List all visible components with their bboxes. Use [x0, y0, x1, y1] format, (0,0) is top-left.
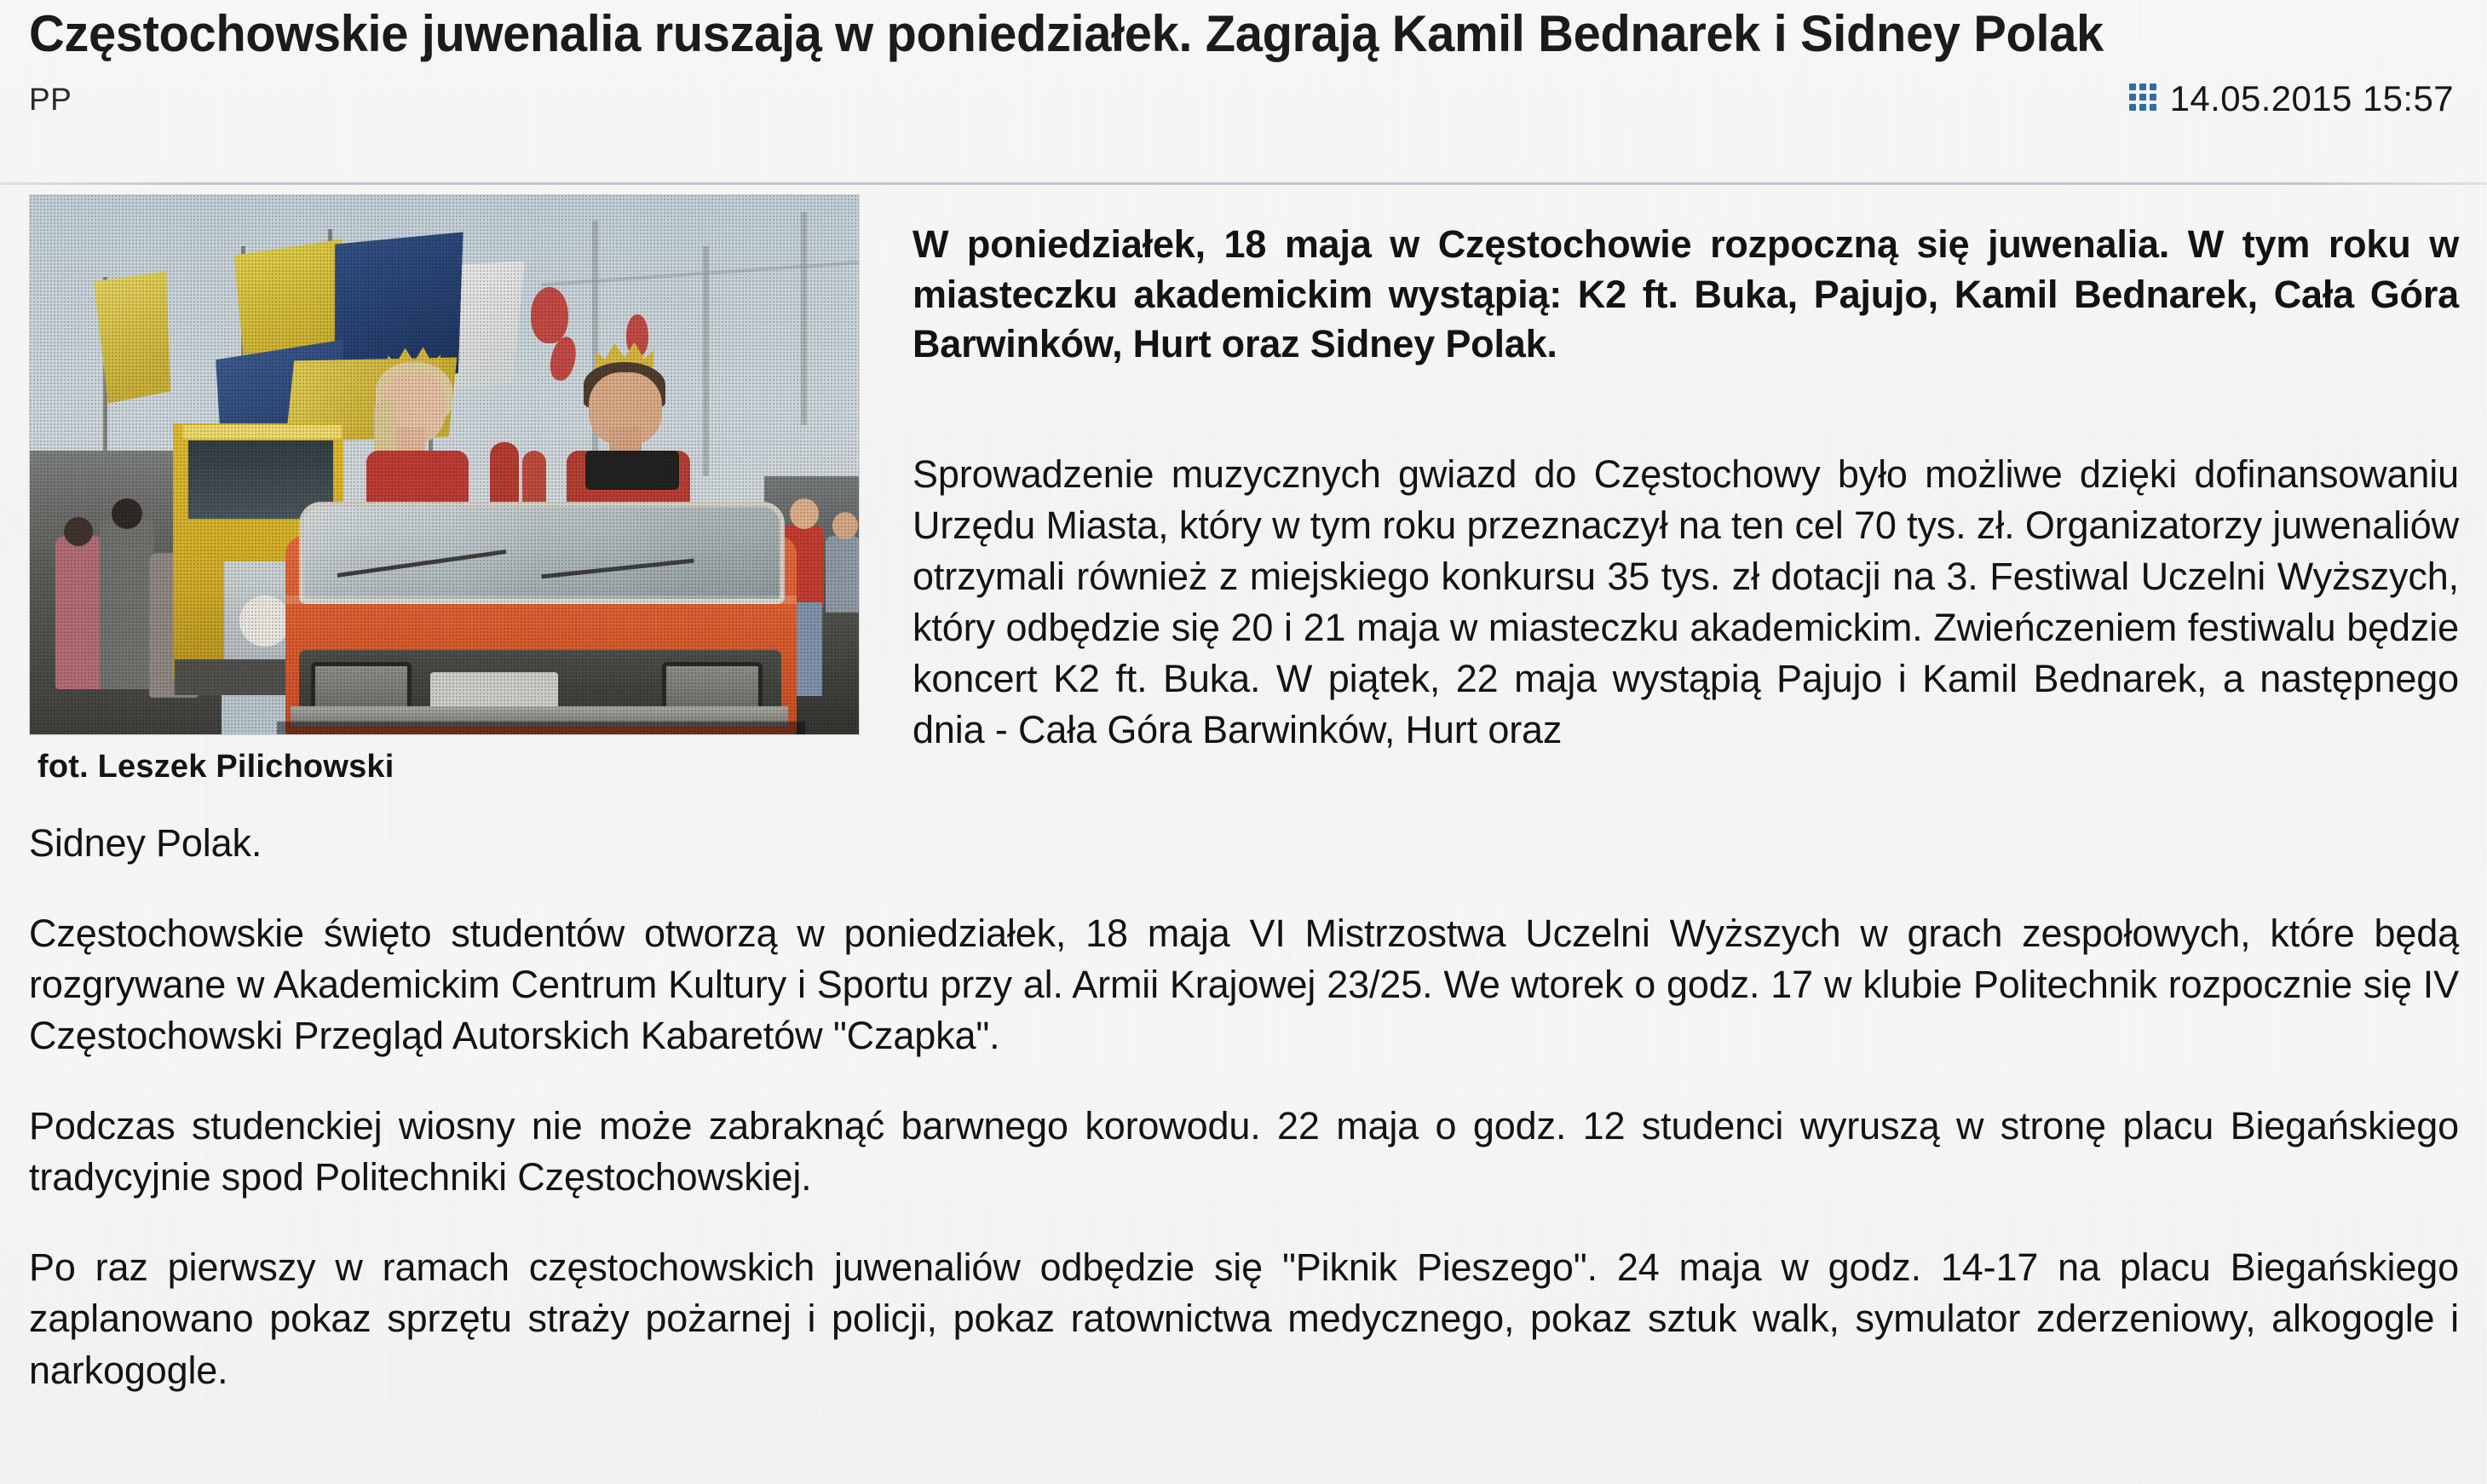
article-paragraph-2: Sidney Polak. — [29, 818, 2459, 869]
crowd-person-head — [112, 498, 142, 529]
publish-datestamp: 14.05.2015 15:57 — [2129, 78, 2454, 119]
publish-date-text: 14.05.2015 15:57 — [2170, 78, 2454, 119]
red-decoration — [531, 287, 568, 343]
byline-row: PP 14.05.2015 15:57 — [29, 75, 2459, 135]
article-paragraph-1: Sprowadzenie muzycznych gwiazd do Często… — [912, 449, 2459, 756]
article-photo — [29, 194, 860, 735]
article-paragraph-5: Po raz pierwszy w ramach częstochowskich… — [29, 1242, 2459, 1395]
article-content-area: Częstochowskie juwenalia ruszają w ponie… — [29, 0, 2459, 1484]
article-lead-paragraph: W poniedziałek, 18 maja w Częstochowie r… — [912, 220, 2459, 370]
article-figure: fot. Leszek Pilichowski — [29, 194, 860, 785]
car-hood-highlight — [285, 595, 797, 604]
article-body-flow: Sidney Polak. Częstochowskie święto stud… — [29, 818, 2459, 1396]
yellow-vehicle-headlight — [239, 595, 291, 647]
crowd-person-head — [790, 498, 819, 529]
page-title: Częstochowskie juwenalia ruszają w ponie… — [29, 0, 2340, 63]
crowd-person — [55, 536, 103, 689]
photo-caption: fot. Leszek Pilichowski — [29, 749, 860, 785]
article-page: Częstochowskie juwenalia ruszają w ponie… — [0, 0, 2487, 1484]
crowd-person-head — [64, 517, 93, 546]
calendar-grid-icon — [2129, 83, 2156, 111]
author-byline: PP — [29, 82, 72, 118]
background-post — [592, 221, 598, 476]
header-divider — [0, 182, 2487, 185]
article-paragraph-3: Częstochowskie święto studentów otworzą … — [29, 908, 2459, 1061]
crowd-person-head — [832, 512, 858, 539]
car-windshield — [299, 502, 785, 604]
crowd-person — [826, 536, 860, 613]
car-license-plate — [430, 672, 558, 710]
yellow-vehicle-roof-strip — [183, 425, 342, 439]
car-shadow — [277, 722, 805, 735]
crowd-person — [100, 519, 154, 689]
article-paragraph-4: Podczas studenckiej wiosny nie może zabr… — [29, 1101, 2459, 1203]
background-post — [703, 246, 709, 476]
man-dark-clothing — [585, 451, 679, 490]
background-post — [801, 212, 807, 425]
